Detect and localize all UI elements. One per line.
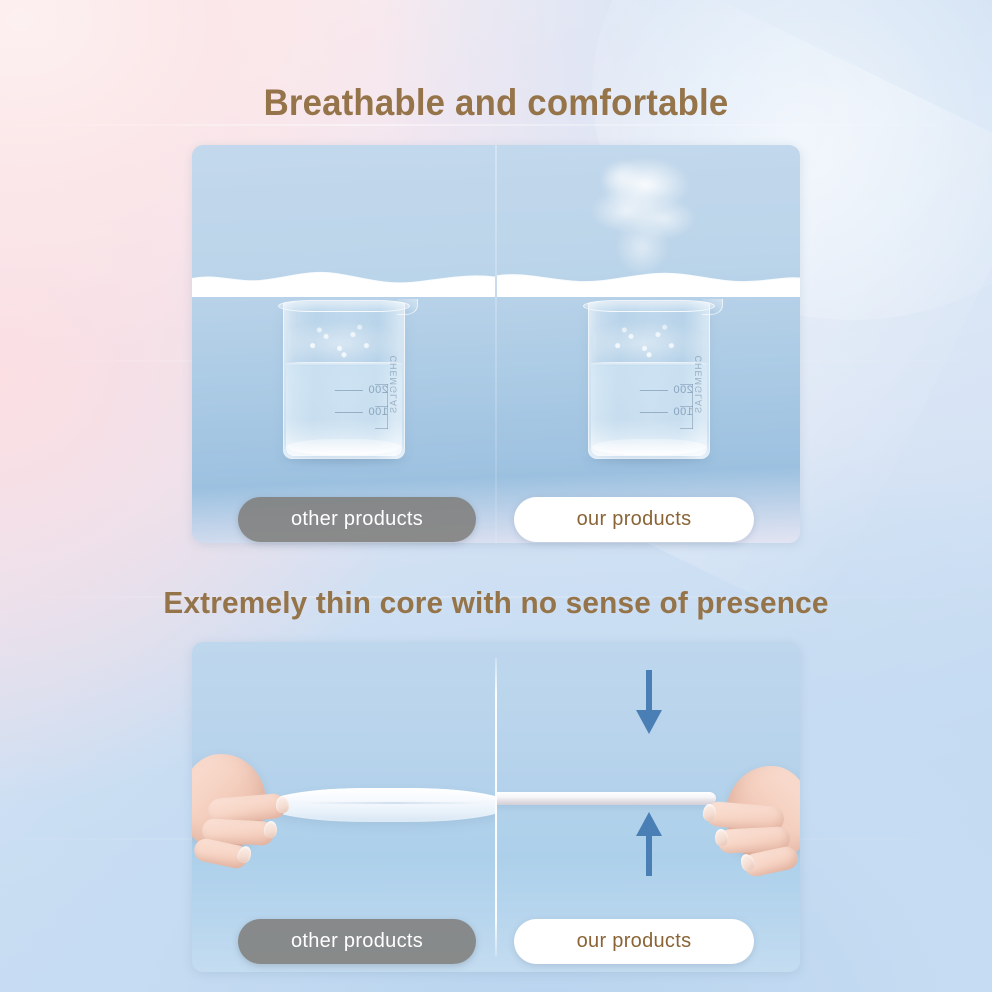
graduation-label: 100 — [673, 406, 693, 418]
beaker-rim — [583, 300, 715, 312]
membrane-sheet-left — [192, 267, 495, 297]
badge-our-products-thickness[interactable]: our products — [514, 919, 754, 964]
beaker-scene-left: 200 100 CHEMGLAS — [192, 145, 495, 543]
graduation-mark-200: 200 — [640, 384, 693, 396]
section-heading-thin-core: Extremely thin core with no sense of pre… — [20, 585, 972, 621]
panel-divider-line — [495, 658, 497, 956]
fingernail — [703, 804, 717, 821]
vapor-steam-cloud — [567, 151, 717, 281]
membrane-sheet-right — [497, 267, 800, 297]
beaker-left: 200 100 CHEMGLAS — [283, 302, 405, 459]
beaker-rim — [278, 300, 410, 312]
panel-our-products-beaker: 200 100 CHEMGLAS — [497, 145, 800, 543]
product-feature-poster: Breathable and comfortable — [0, 0, 992, 992]
beaker-scene-right: 200 100 CHEMGLAS — [497, 145, 800, 543]
graduation-tick — [335, 412, 363, 413]
beaker-glass-body: 200 100 CHEMGLAS — [588, 302, 710, 459]
beaker-base — [592, 439, 706, 455]
background-streak — [0, 124, 992, 126]
graduation-tick — [640, 412, 668, 413]
graduation-mark-200: 200 — [335, 384, 388, 396]
beaker-base — [287, 439, 401, 455]
graduation-mark-100: 100 — [640, 406, 693, 418]
beaker-brand-etching: CHEMGLAS — [389, 355, 399, 414]
beaker-spout — [397, 299, 418, 315]
fingernail — [276, 796, 290, 813]
badge-other-products-thickness[interactable]: other products — [238, 919, 476, 964]
badge-our-products-breathable[interactable]: our products — [514, 497, 754, 542]
graduation-label: 100 — [368, 406, 388, 418]
panel-other-products-beaker: 200 100 CHEMGLAS — [192, 145, 495, 543]
graduation-tick — [640, 390, 668, 391]
beaker-brand-etching: CHEMGLAS — [694, 355, 704, 414]
badge-other-products-breathable[interactable]: other products — [238, 497, 476, 542]
fingernail — [263, 820, 278, 839]
graduation-tick — [335, 390, 363, 391]
beaker-right: 200 100 CHEMGLAS — [588, 302, 710, 459]
graduation-minor-tick — [375, 428, 388, 429]
hand-right — [680, 754, 800, 882]
panel-seam-divider — [495, 145, 497, 543]
breathable-comparison-card: 200 100 CHEMGLAS — [192, 145, 800, 543]
arrow-up-icon — [635, 810, 663, 876]
arrow-down-icon — [635, 670, 663, 736]
section-heading-breathable: Breathable and comfortable — [30, 82, 962, 124]
graduation-label: 200 — [368, 384, 388, 396]
beaker-spout — [702, 299, 723, 315]
graduation-mark-100: 100 — [335, 406, 388, 418]
beaker-glass-body: 200 100 CHEMGLAS — [283, 302, 405, 459]
beaker-foam-bubbles — [593, 318, 705, 364]
graduation-minor-tick — [680, 428, 693, 429]
graduation-label: 200 — [673, 384, 693, 396]
beaker-foam-bubbles — [288, 318, 400, 364]
hand-left — [192, 750, 312, 878]
